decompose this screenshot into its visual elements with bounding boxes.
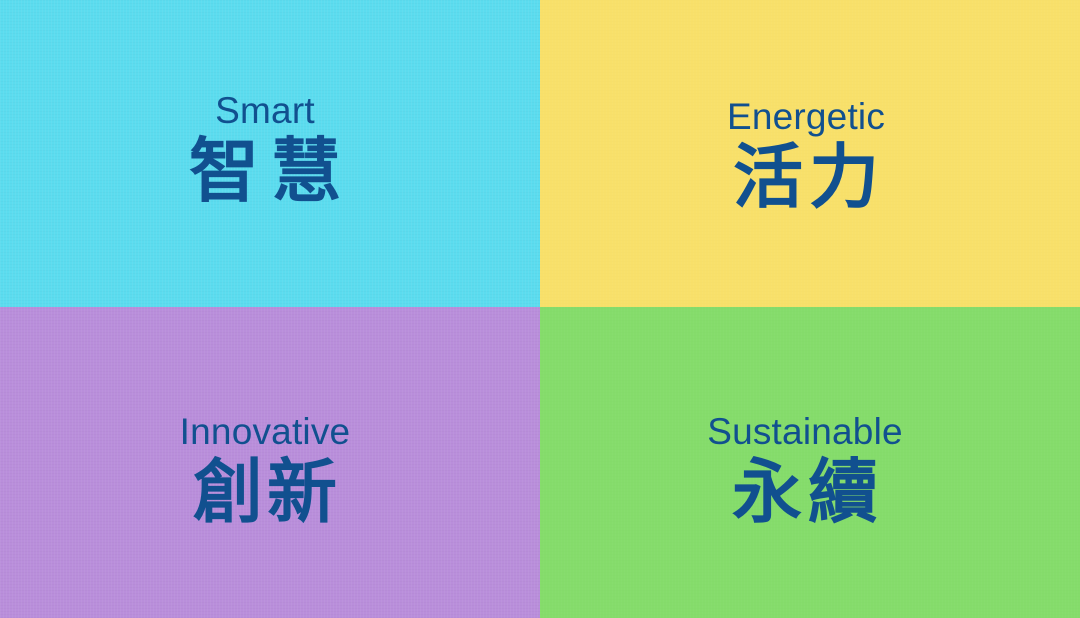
word-block-innovative: Innovative 創新 bbox=[0, 413, 540, 527]
brand-values-poster: Smart 智慧 Energetic 活力 Innovative 創新 Sust… bbox=[0, 0, 1080, 618]
label-en-smart: Smart bbox=[0, 92, 530, 129]
quadrant-smart[interactable]: Smart 智慧 bbox=[0, 0, 540, 307]
label-zh-energetic: 活力 bbox=[540, 142, 1072, 212]
word-block-smart: Smart 智慧 bbox=[0, 92, 540, 206]
label-zh-sustainable: 永續 bbox=[540, 457, 1070, 527]
label-en-sustainable: Sustainable bbox=[540, 413, 1070, 450]
quadrant-sustainable[interactable]: Sustainable 永續 bbox=[540, 307, 1080, 618]
label-zh-innovative: 創新 bbox=[0, 457, 530, 527]
label-en-innovative: Innovative bbox=[0, 413, 530, 450]
quadrant-innovative[interactable]: Innovative 創新 bbox=[0, 307, 540, 618]
label-en-energetic: Energetic bbox=[540, 98, 1072, 135]
quadrant-grid: Smart 智慧 Energetic 活力 Innovative 創新 Sust… bbox=[0, 0, 1080, 618]
word-block-energetic: Energetic 活力 bbox=[540, 98, 1080, 212]
word-block-sustainable: Sustainable 永續 bbox=[540, 413, 1080, 527]
label-zh-smart: 智慧 bbox=[0, 136, 530, 206]
quadrant-energetic[interactable]: Energetic 活力 bbox=[540, 0, 1080, 307]
